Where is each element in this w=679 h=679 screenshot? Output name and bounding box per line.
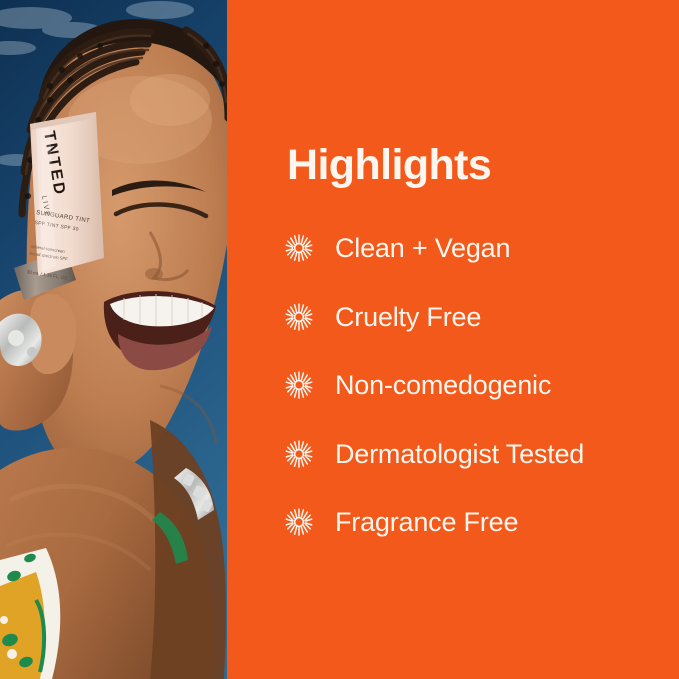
- patterned-shirt: [0, 548, 60, 679]
- list-item-label: Clean + Vegan: [335, 232, 510, 264]
- highlights-list: Clean + Vegan: [285, 230, 665, 573]
- list-item: Non-comedogenic: [285, 367, 665, 403]
- list-item: Cruelty Free: [285, 299, 665, 335]
- list-item: Dermatologist Tested: [285, 436, 665, 472]
- sunburst-icon: [285, 303, 313, 331]
- page-title: Highlights: [287, 139, 491, 191]
- list-item-label: Fragrance Free: [335, 506, 518, 538]
- marketing-graphic: TNTED LIVE SUNGUARD TINT SPF TINT SPF 30…: [0, 0, 679, 679]
- sunburst-icon: [285, 234, 313, 262]
- list-item-label: Cruelty Free: [335, 301, 481, 333]
- list-item-label: Dermatologist Tested: [335, 438, 584, 470]
- sunburst-icon: [285, 508, 313, 536]
- highlights-panel: Highlights: [227, 0, 679, 679]
- list-item-label: Non-comedogenic: [335, 369, 551, 401]
- list-item: Fragrance Free: [285, 504, 665, 540]
- sunburst-icon: [285, 440, 313, 468]
- photo-illustration: TNTED LIVE SUNGUARD TINT SPF TINT SPF 30…: [0, 0, 227, 679]
- list-item: Clean + Vegan: [285, 230, 665, 266]
- product-lifestyle-photo: TNTED LIVE SUNGUARD TINT SPF TINT SPF 30…: [0, 0, 227, 679]
- sunburst-icon: [285, 371, 313, 399]
